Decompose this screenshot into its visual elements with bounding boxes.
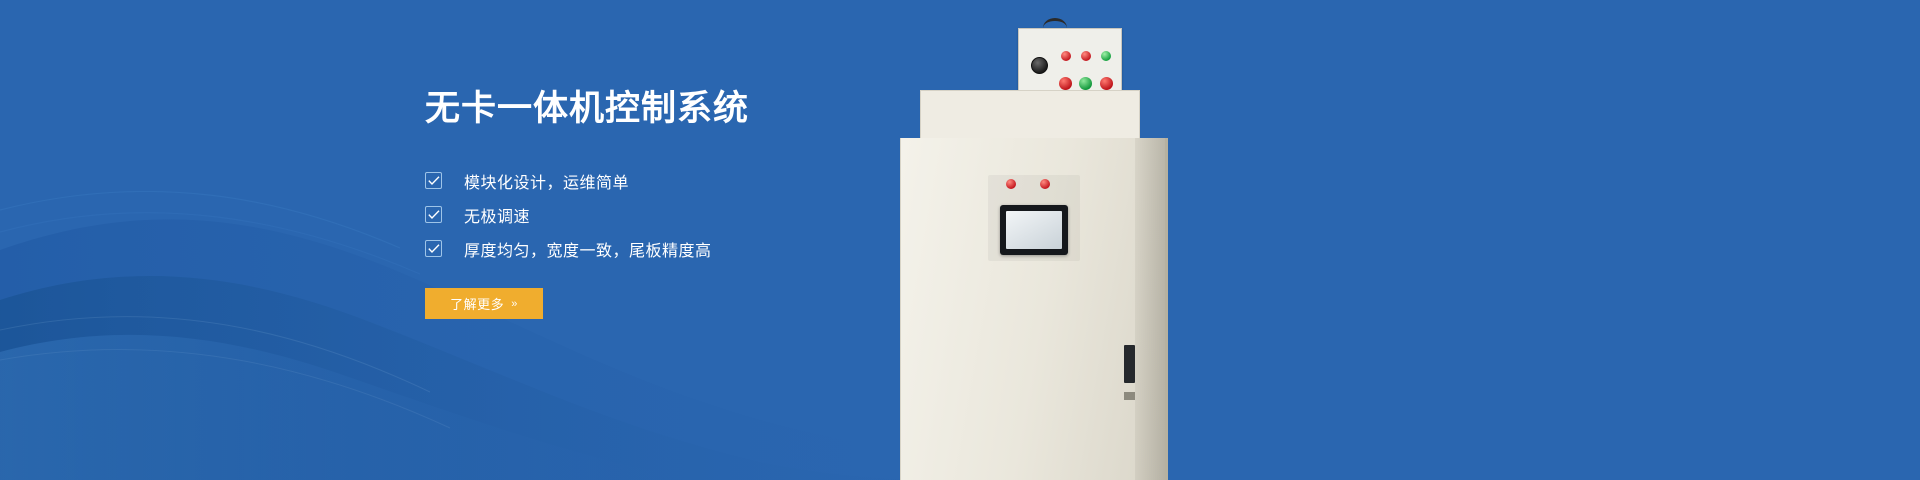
check-icon	[425, 206, 442, 223]
feature-item-3: 厚度均匀，宽度一致，尾板精度高	[425, 232, 1125, 265]
vent-slot	[1124, 345, 1135, 383]
feature-label: 模块化设计，运维简单	[464, 169, 629, 193]
check-icon	[425, 172, 442, 189]
learn-more-button[interactable]: 了解更多 »	[425, 288, 543, 319]
hero-banner: 无卡一体机控制系统 模块化设计，运维简单 无极调速	[0, 0, 1920, 480]
feature-item-1: 模块化设计，运维简单	[425, 164, 1125, 197]
lamp-red-1[interactable]	[1061, 51, 1071, 61]
feature-item-2: 无极调速	[425, 198, 1125, 231]
cabinet-edge	[1165, 138, 1168, 480]
feature-label: 无极调速	[464, 203, 530, 227]
cabinet-shading	[1135, 138, 1168, 480]
lamp-green-1[interactable]	[1101, 51, 1111, 61]
page-title: 无卡一体机控制系统	[425, 88, 1125, 130]
cabinet-label	[1124, 392, 1135, 400]
check-icon	[425, 240, 442, 257]
selector-knob[interactable]	[1031, 57, 1048, 74]
learn-more-label: 了解更多	[450, 294, 504, 313]
feature-label: 厚度均匀，宽度一致，尾板精度高	[464, 237, 712, 261]
lamp-red-2[interactable]	[1081, 51, 1091, 61]
chevron-right-icon: »	[511, 298, 518, 310]
feature-list: 模块化设计，运维简单 无极调速 厚度均匀，宽度一致，尾板精度高	[425, 164, 1125, 265]
hero-content: 无卡一体机控制系统 模块化设计，运维简单 无极调速	[425, 88, 1125, 319]
